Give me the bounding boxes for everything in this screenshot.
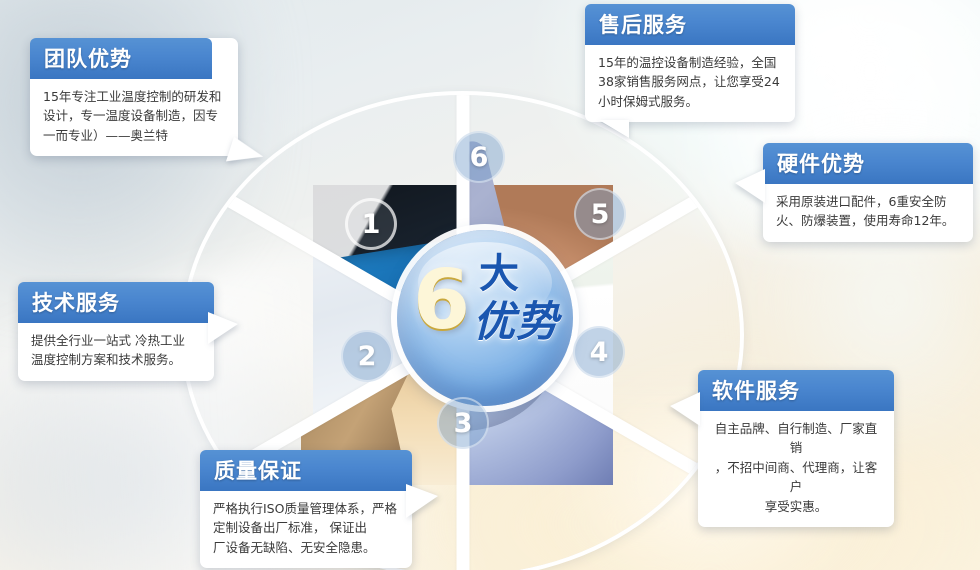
hub-inner: 6 大 优势 (397, 230, 573, 406)
badge-6[interactable]: 6 (453, 131, 505, 183)
center-hub: 6 大 优势 (397, 230, 573, 406)
callout-quality-title: 质量保证 (200, 450, 412, 491)
callout-technical-service[interactable]: 技术服务 提供全行业一站式 冷热工业 温度控制方案和技术服务。 (18, 282, 214, 381)
callout-software-body: 自主品牌、自行制造、厂家直销 ，不招中间商、代理商，让客户 享受实惠。 (698, 411, 894, 527)
badge-5-number: 5 (591, 199, 610, 230)
callout-software-tail (670, 392, 700, 426)
badge-1-number: 1 (362, 209, 381, 240)
callout-quality-body: 严格执行ISO质量管理体系，严格 定制设备出厂标准， 保证出 厂设备无缺陷、无安… (200, 491, 412, 568)
callout-team-body: 15年专注工业温度控制的研发和 设计，专一温度设备制造，因专 一而专业）——奥兰… (30, 79, 238, 156)
badge-6-number: 6 (470, 142, 489, 173)
callout-hardware-advantage[interactable]: 硬件优势 采用原装进口配件，6重安全防 火、防爆装置，使用寿命12年。 (763, 143, 973, 242)
badge-3-number: 3 (454, 408, 473, 439)
badge-2-number: 2 (358, 341, 377, 372)
callout-hardware-title: 硬件优势 (763, 143, 973, 184)
callout-hardware-tail (735, 169, 765, 203)
badge-5[interactable]: 5 (574, 188, 626, 240)
callout-after-sales-tail (599, 120, 629, 138)
callout-technical-title: 技术服务 (18, 282, 214, 323)
hub-number: 6 (413, 260, 470, 342)
callout-quality-assurance[interactable]: 质量保证 严格执行ISO质量管理体系，严格 定制设备出厂标准， 保证出 厂设备无… (200, 450, 412, 568)
callout-technical-body: 提供全行业一站式 冷热工业 温度控制方案和技术服务。 (18, 323, 214, 381)
callout-software-service[interactable]: 软件服务 自主品牌、自行制造、厂家直销 ，不招中间商、代理商，让客户 享受实惠。 (698, 370, 894, 527)
hub-label: 优势 (473, 300, 559, 344)
badge-1[interactable]: 1 (345, 198, 397, 250)
callout-technical-tail (208, 312, 238, 344)
badge-4-number: 4 (590, 337, 609, 368)
callout-after-sales-body: 15年的温控设备制造经验，全国 38家销售服务网点，让您享受24 小时保姆式服务… (585, 45, 795, 122)
callout-quality-tail (406, 484, 438, 518)
callout-software-title: 软件服务 (698, 370, 894, 411)
callout-team-title: 团队优势 (30, 38, 212, 79)
hub-unit: 大 (479, 254, 519, 294)
badge-2[interactable]: 2 (341, 330, 393, 382)
badge-4[interactable]: 4 (573, 326, 625, 378)
callout-team-advantage[interactable]: 团队优势 15年专注工业温度控制的研发和 设计，专一温度设备制造，因专 一而专业… (30, 38, 238, 156)
callout-after-sales-title: 售后服务 (585, 4, 795, 45)
callout-hardware-body: 采用原装进口配件，6重安全防 火、防爆装置，使用寿命12年。 (763, 184, 973, 242)
callout-after-sales[interactable]: 售后服务 15年的温控设备制造经验，全国 38家销售服务网点，让您享受24 小时… (585, 4, 795, 122)
infographic-stage: 6 大 优势 1 2 3 4 5 6 团队优势 15年专注工业温度控制的研发和 … (0, 0, 980, 570)
badge-3[interactable]: 3 (437, 397, 489, 449)
